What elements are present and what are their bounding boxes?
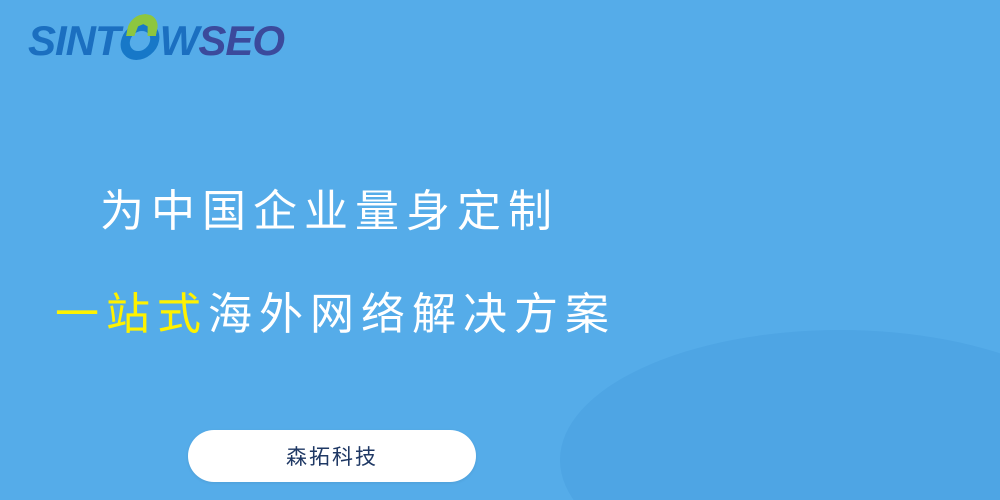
logo-wordmark: SINT W SEO [28, 20, 284, 62]
sintowseo-logo[interactable]: SINT W SEO [28, 18, 284, 64]
brand-cta-button[interactable]: 森拓科技 [188, 430, 476, 482]
logo-text-w: W [160, 20, 199, 62]
headline-primary: 为中国企业量身定制 [100, 175, 559, 239]
wifi-ring-icon [117, 22, 162, 60]
logo-text-seo: SEO [198, 20, 284, 62]
headline-accent: 一站式 [55, 289, 208, 340]
headline-secondary-rest: 海外网络解决方案 [208, 289, 616, 340]
seo-marketing-banner: SINT W SEO 为中国企业量身定制 一站式海外网络解决方案 森拓科技 [0, 0, 1000, 500]
logo-text-sint: SINT [28, 20, 120, 62]
seo-dashboard-illustration [600, 0, 1000, 500]
headline-secondary: 一站式海外网络解决方案 [55, 278, 616, 342]
brand-cta-label: 森拓科技 [286, 441, 378, 471]
